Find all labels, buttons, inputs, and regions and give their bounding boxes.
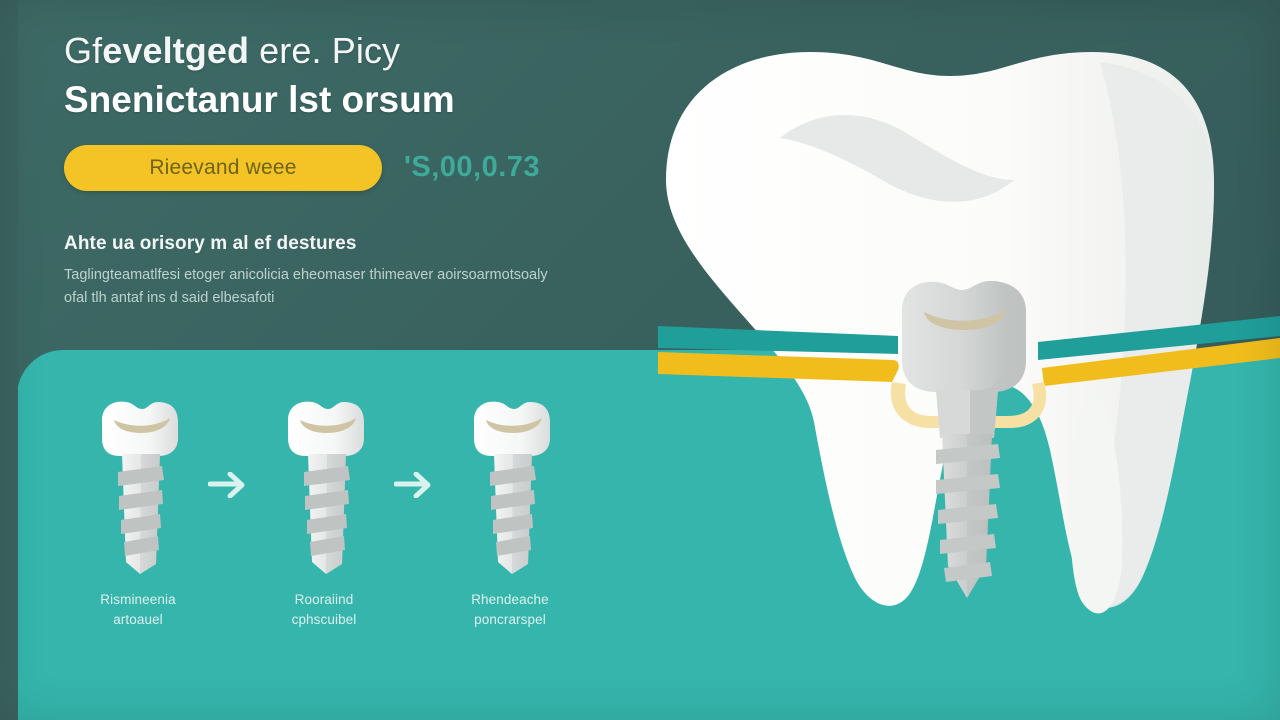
- arrow-right-icon: [394, 472, 440, 498]
- implant-screw-icon: [278, 396, 370, 576]
- step-caption-line2: artoauel: [100, 610, 175, 630]
- arrow-cell: [200, 396, 262, 498]
- step-item[interactable]: Rhendeache poncrarspel: [448, 396, 572, 629]
- implant-abutment: [902, 281, 1026, 392]
- infographic-canvas: Gfeveltged ere. Picy Snenictanur lst ors…: [0, 0, 1280, 720]
- headline-tail: ere. Picy: [249, 30, 400, 71]
- headline-line-2: Snenictanur lst orsum: [64, 78, 624, 122]
- arrow-right-icon: [208, 472, 254, 498]
- steps-strip: Rismineenia artoauel: [76, 396, 596, 629]
- badge-row: Rieevand weee 'S‚00‚0.73: [64, 145, 624, 191]
- step-item[interactable]: Rooraiind cphscuibel: [262, 396, 386, 629]
- step-caption-line2: cphscuibel: [292, 610, 357, 630]
- intro-paragraph: Taglingteamatlfesi etoger anicolicia ehe…: [64, 264, 574, 311]
- price-label: 'S‚00‚0.73: [404, 151, 540, 184]
- step-caption-line1: Rooraiind: [292, 590, 357, 610]
- step-caption: Rooraiind cphscuibel: [292, 590, 357, 629]
- tooth-with-implant-illustration: [630, 30, 1280, 720]
- step-caption: Rismineenia artoauel: [100, 590, 175, 629]
- implant-screw-icon: [464, 396, 556, 576]
- headline-lead: Gf: [64, 30, 102, 71]
- step-caption: Rhendeache poncrarspel: [471, 590, 549, 629]
- step-caption-line2: poncrarspel: [471, 610, 549, 630]
- implant-screw-threaded: [936, 390, 1000, 598]
- intro-subheading: Ahte ua orisory m al ef destures: [64, 233, 624, 255]
- left-edge-strip: [0, 0, 18, 720]
- hero-copy-block: Gfeveltged ere. Picy Snenictanur lst ors…: [64, 30, 624, 325]
- cta-pill-button[interactable]: Rieevand weee: [64, 145, 382, 191]
- step-item[interactable]: Rismineenia artoauel: [76, 396, 200, 629]
- implant-screw-icon: [92, 396, 184, 576]
- step-caption-line1: Rhendeache: [471, 590, 549, 610]
- arrow-cell: [386, 396, 448, 498]
- step-caption-line1: Rismineenia: [100, 590, 175, 610]
- headline-accent: eveltged: [102, 30, 249, 71]
- headline-line-1: Gfeveltged ere. Picy: [64, 30, 624, 72]
